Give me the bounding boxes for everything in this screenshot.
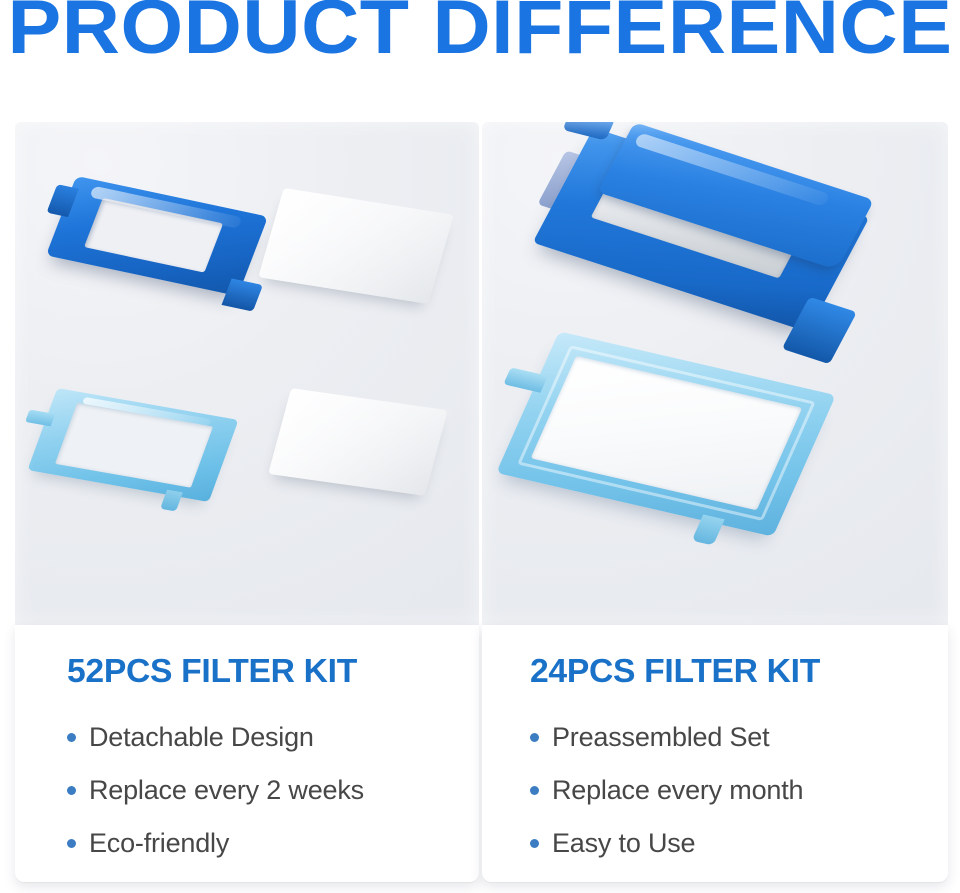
list-item: Preassembled Set <box>530 711 803 764</box>
comparison-columns: 52PCS FILTER KIT Detachable Design Repla… <box>0 122 960 893</box>
product-photo-52pcs <box>15 122 479 625</box>
info-card-24pcs: 24PCS FILTER KIT Preassembled Set Replac… <box>482 625 948 882</box>
white-filter-pad-image-1 <box>258 188 453 304</box>
bullet-icon <box>67 786 76 795</box>
kit-title-52pcs: 52PCS FILTER KIT <box>67 652 357 690</box>
feature-label: Replace every month <box>552 775 803 806</box>
light-blue-filter-frame-image <box>27 388 238 502</box>
tray-inner-lip <box>517 345 816 521</box>
feature-label: Preassembled Set <box>552 722 769 753</box>
product-column-52pcs: 52PCS FILTER KIT Detachable Design Repla… <box>15 122 479 882</box>
feature-label: Replace every 2 weeks <box>89 775 364 806</box>
list-item: Easy to Use <box>530 817 803 870</box>
kit-title-24pcs: 24PCS FILTER KIT <box>530 652 820 690</box>
feature-label: Easy to Use <box>552 828 695 859</box>
page-title: PRODUCT DIFFERENCE <box>8 0 953 70</box>
white-filter-pad-image-2 <box>268 388 447 496</box>
list-item: Eco-friendly <box>67 817 364 870</box>
bullet-icon <box>530 733 539 742</box>
feature-list-24pcs: Preassembled Set Replace every month Eas… <box>530 711 803 870</box>
page-header: PRODUCT DIFFERENCE <box>0 0 960 78</box>
product-photo-24pcs <box>482 122 948 625</box>
list-item: Replace every 2 weeks <box>67 764 364 817</box>
bullet-icon <box>530 839 539 848</box>
info-card-52pcs: 52PCS FILTER KIT Detachable Design Repla… <box>15 625 479 882</box>
bullet-icon <box>67 733 76 742</box>
bullet-icon <box>530 786 539 795</box>
light-blue-assembled-filter-image <box>496 331 836 536</box>
feature-label: Detachable Design <box>89 722 314 753</box>
feature-list-52pcs: Detachable Design Replace every 2 weeks … <box>67 711 364 870</box>
bullet-icon <box>67 839 76 848</box>
blue-assembled-filter-image <box>533 128 870 332</box>
list-item: Detachable Design <box>67 711 364 764</box>
blue-filter-frame-image <box>46 176 268 296</box>
feature-label: Eco-friendly <box>89 828 229 859</box>
list-item: Replace every month <box>530 764 803 817</box>
product-column-24pcs: 24PCS FILTER KIT Preassembled Set Replac… <box>482 122 946 882</box>
